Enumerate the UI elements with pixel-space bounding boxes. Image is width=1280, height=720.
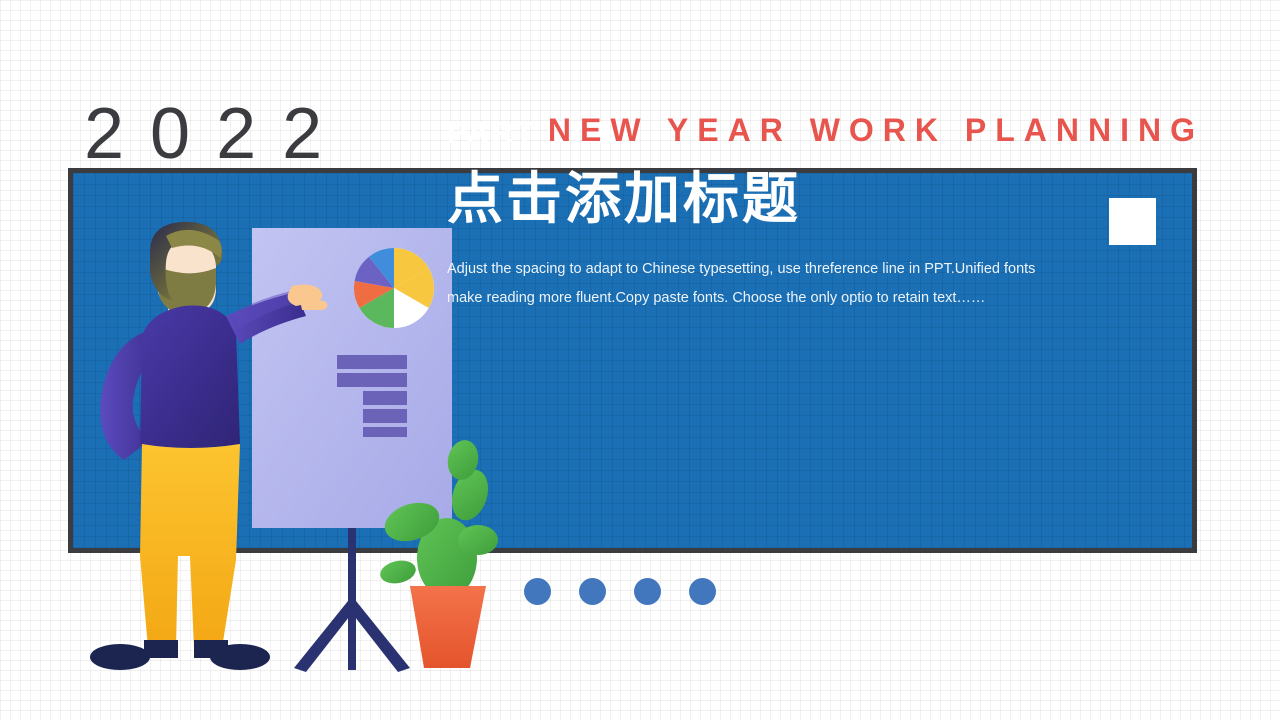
body-paragraph: Adjust the spacing to adapt to Chinese t… [447,255,1047,313]
pagination-dot[interactable] [634,578,661,605]
year-label: 2022 [84,98,348,170]
slide-canvas: 2022 NEW YEAR WORK PLANNING [0,0,1280,720]
pagination-dot[interactable] [689,578,716,605]
pagination-dots[interactable] [524,578,716,605]
body-line-2: reading more fluent.Copy paste fonts. Ch… [487,290,986,306]
pagination-dot[interactable] [579,578,606,605]
eyebrow-heading: NEW YEAR WORK PLANNING [548,112,1204,149]
white-square-decoration [1109,198,1156,245]
page-title: 点击添加标题 [447,168,1087,231]
pagination-dot[interactable] [524,578,551,605]
